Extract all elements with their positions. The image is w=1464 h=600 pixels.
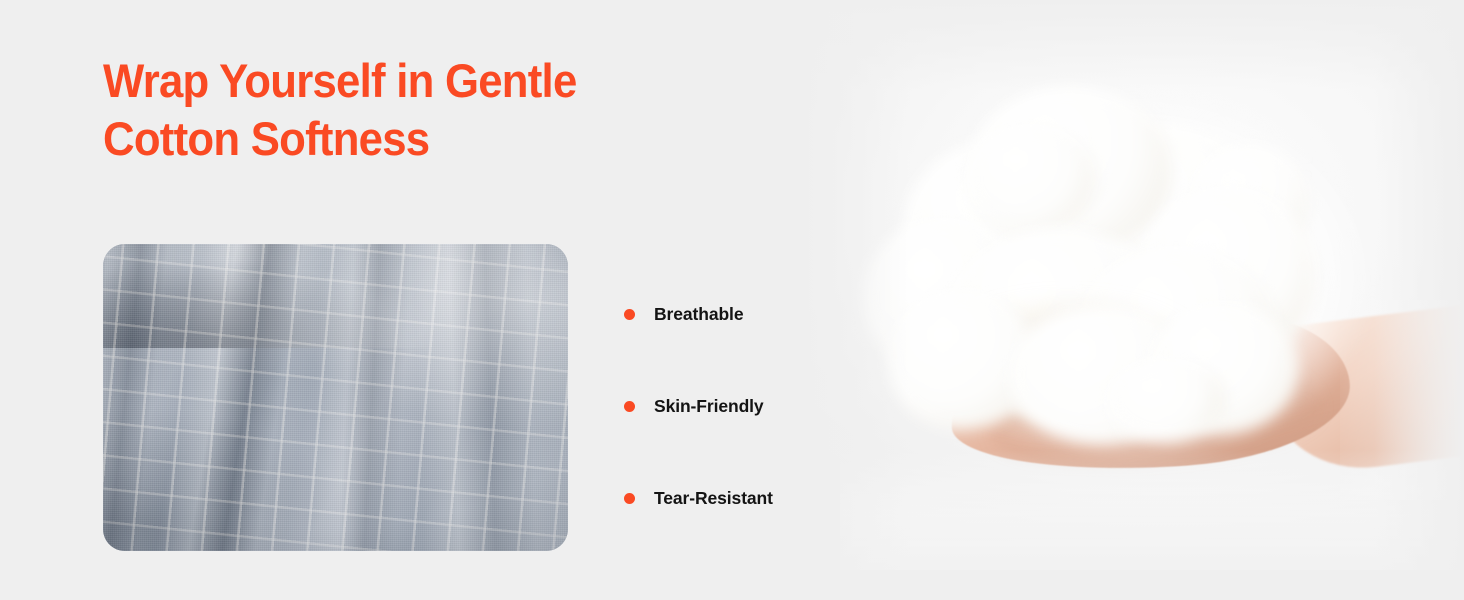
fabric-vignette <box>103 244 568 551</box>
page-title: Wrap Yourself in Gentle Cotton Softness <box>103 52 680 168</box>
product-feature-banner: Wrap Yourself in Gentle Cotton Softness … <box>0 0 1464 600</box>
feature-label: Skin-Friendly <box>654 396 764 417</box>
fabric-swatch-image <box>103 244 568 551</box>
list-item: Tear-Resistant <box>624 480 773 516</box>
cloud-puff <box>966 124 1096 234</box>
bullet-dot-icon <box>624 401 635 412</box>
bullet-dot-icon <box>624 493 635 504</box>
photo-left-fade <box>800 0 910 600</box>
feature-label: Tear-Resistant <box>654 488 773 509</box>
photo-right-fade <box>1374 0 1464 600</box>
feature-label: Breathable <box>654 304 743 325</box>
list-item: Breathable <box>624 296 773 332</box>
feature-list: Breathable Skin-Friendly Tear-Resistant <box>624 296 773 516</box>
list-item: Skin-Friendly <box>624 388 773 424</box>
bullet-dot-icon <box>624 309 635 320</box>
cloud-puff <box>1106 358 1226 442</box>
hand-holding-cotton-cloud-image <box>800 0 1464 600</box>
cotton-cloud-graphic <box>848 78 1318 448</box>
